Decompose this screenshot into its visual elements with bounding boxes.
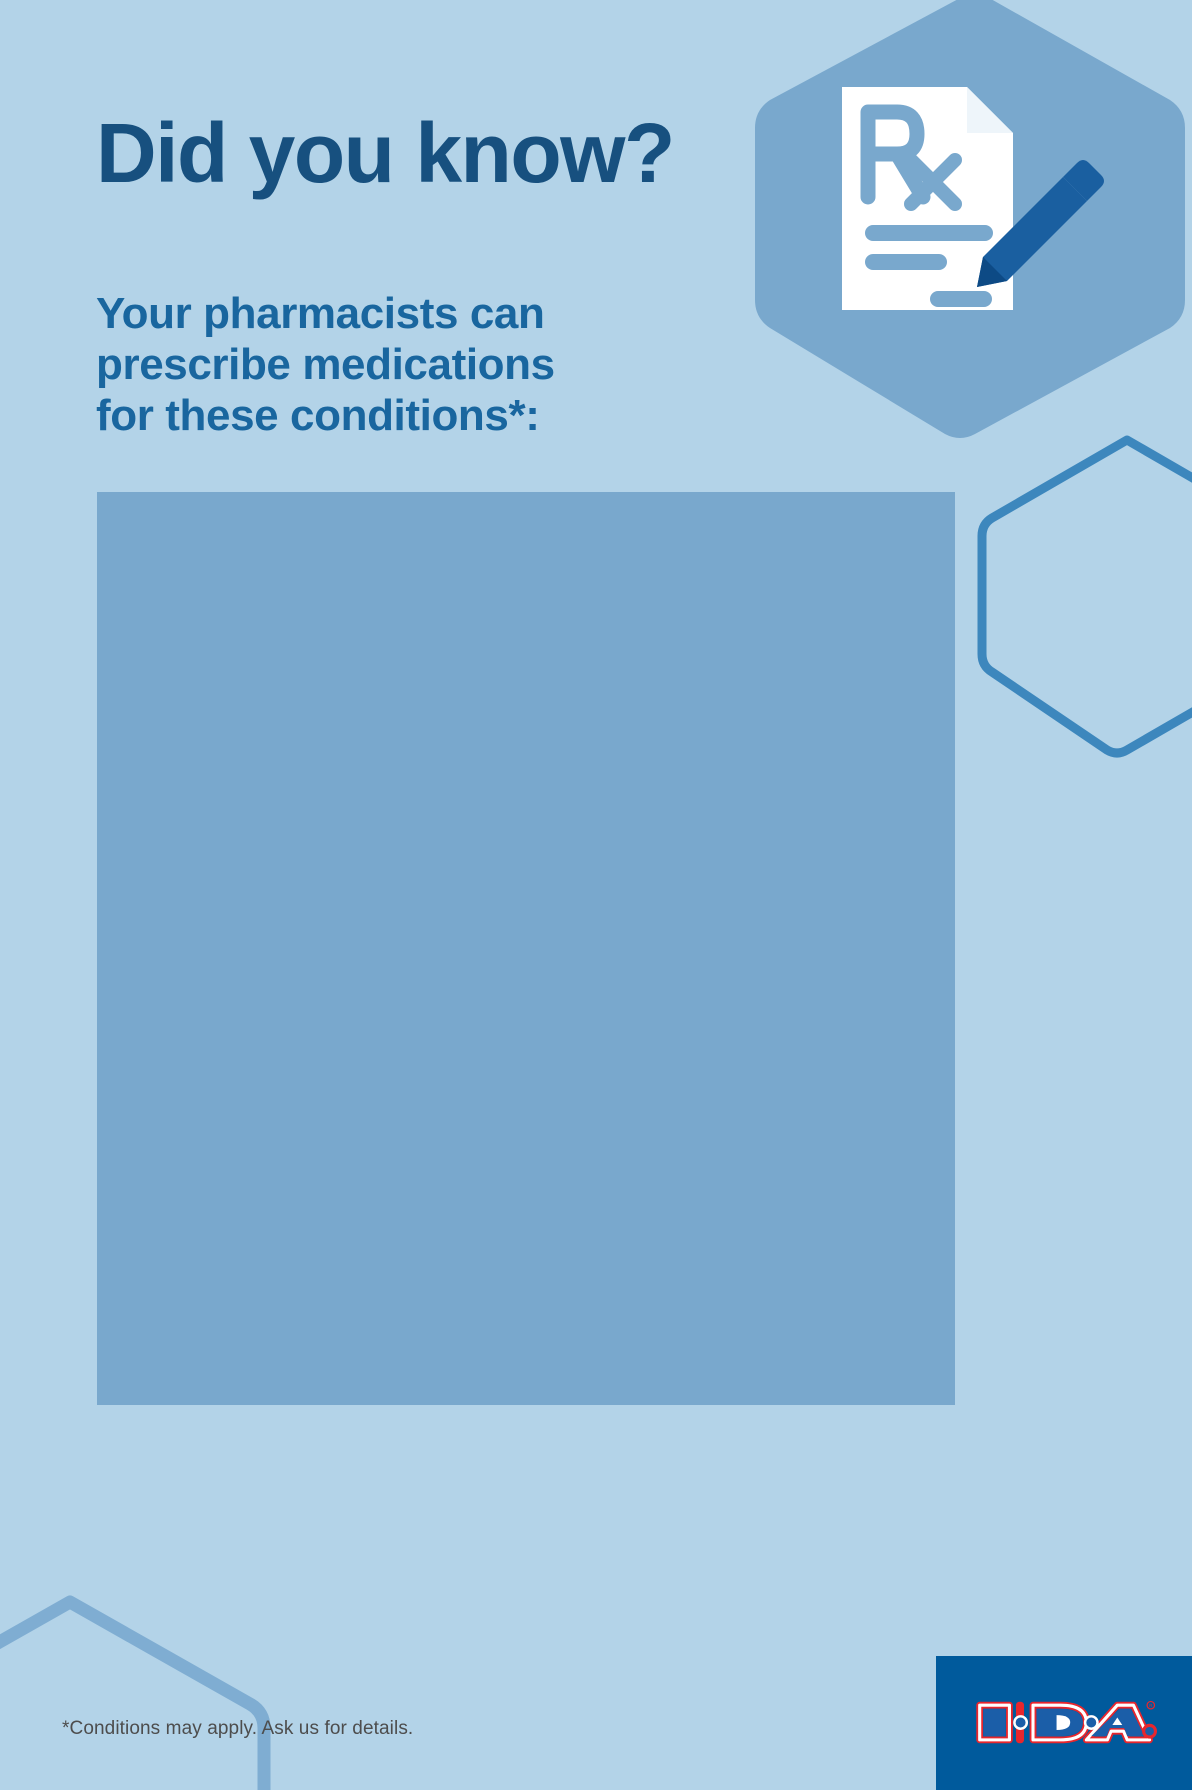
subtitle-line-2: prescribe medications [96, 339, 716, 390]
svg-text:R: R [1149, 1704, 1152, 1709]
hexagon-outline-bottom-left-icon [0, 1590, 280, 1790]
hexagon-outline-right-icon [962, 430, 1192, 760]
conditions-column-left [97, 492, 573, 1405]
prescription-document-pencil-icon [842, 87, 1104, 310]
headline-block: Did you know? [96, 112, 776, 194]
page-title: Did you know? [96, 112, 776, 194]
ida-logo-block: R [936, 1656, 1192, 1790]
footnote-disclaimer: *Conditions may apply. Ask us for detail… [62, 1718, 413, 1740]
page-subtitle: Your pharmacists can prescribe medicatio… [96, 288, 716, 441]
subtitle-line-3: for these conditions*: [96, 390, 716, 441]
ida-logo-icon: R [971, 1694, 1157, 1751]
hexagon-badge [745, 0, 1192, 442]
poster-canvas: Did you know? Your pharmacists can presc… [0, 0, 1192, 1790]
subtitle-line-1: Your pharmacists can [96, 288, 716, 339]
conditions-column-right [547, 492, 955, 1405]
